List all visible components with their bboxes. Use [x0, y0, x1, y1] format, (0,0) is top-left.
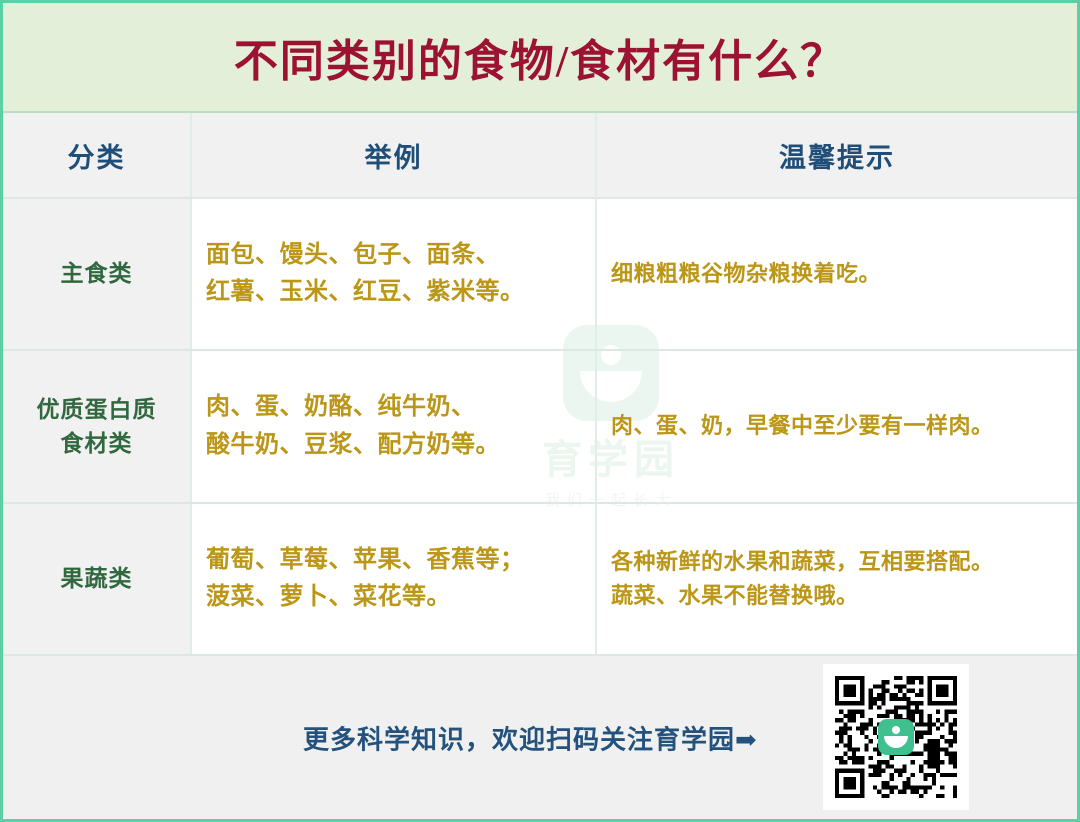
- qr-code-card[interactable]: [823, 664, 969, 810]
- header-label-category: 分类: [68, 136, 126, 175]
- qr-center-logo-icon: [878, 719, 914, 755]
- examples-line: 面包、馒头、包子、面条、: [206, 237, 525, 274]
- row-tips-cell: 各种新鲜的水果和蔬菜，互相要搭配。 蔬菜、水果不能替换哦。: [595, 504, 1077, 654]
- row-examples-cell: 葡萄、草莓、苹果、香蕉等； 菠菜、萝卜、菜花等。: [190, 504, 595, 654]
- row-examples-cell: 肉、蛋、奶酪、纯牛奶、 酸牛奶、豆浆、配方奶等。: [190, 351, 595, 502]
- table-row: 主食类 面包、馒头、包子、面条、 红薯、玉米、红豆、紫米等。 细粮粗粮谷物杂粮换…: [3, 199, 1077, 351]
- row-tips-text: 细粮粗粮谷物杂粮换着吃。: [611, 257, 881, 291]
- examples-line: 红薯、玉米、红豆、紫米等。: [206, 274, 525, 311]
- row-category-cell: 果蔬类: [3, 504, 190, 654]
- row-category-label: 优质蛋白质 食材类: [37, 393, 157, 460]
- title-band: 不同类别的食物/食材有什么？: [3, 3, 1077, 113]
- row-tips-cell: 肉、蛋、奶，早餐中至少要有一样肉。: [595, 351, 1077, 502]
- row-category-cell: 优质蛋白质 食材类: [3, 351, 190, 502]
- row-examples-cell: 面包、馒头、包子、面条、 红薯、玉米、红豆、紫米等。: [190, 199, 595, 349]
- header-label-tips: 温馨提示: [779, 136, 895, 175]
- poster-container: 不同类别的食物/食材有什么？ 育学园 我们一起长大 分类 举例 温馨提示 主食类: [0, 0, 1080, 822]
- qr-logo-bowl: [884, 736, 908, 748]
- row-category-label: 果蔬类: [61, 562, 133, 595]
- table-row: 优质蛋白质 食材类 肉、蛋、奶酪、纯牛奶、 酸牛奶、豆浆、配方奶等。 肉、蛋、奶…: [3, 351, 1077, 504]
- examples-line: 葡萄、草莓、苹果、香蕉等；: [206, 542, 525, 579]
- row-examples-text: 葡萄、草莓、苹果、香蕉等； 菠菜、萝卜、菜花等。: [206, 542, 525, 616]
- tips-line: 蔬菜、水果不能替换哦。: [611, 579, 994, 613]
- qr-code-holder: [835, 676, 957, 798]
- tips-line: 各种新鲜的水果和蔬菜，互相要搭配。: [611, 545, 994, 579]
- category-line: 食材类: [37, 427, 157, 460]
- footer-cta-text: 更多科学知识，欢迎扫码关注育学园➡: [303, 719, 758, 756]
- row-examples-text: 面包、馒头、包子、面条、 红薯、玉米、红豆、紫米等。: [206, 237, 525, 311]
- qr-logo-dot: [892, 726, 900, 734]
- examples-line: 菠菜、萝卜、菜花等。: [206, 579, 525, 616]
- table-row: 果蔬类 葡萄、草莓、苹果、香蕉等； 菠菜、萝卜、菜花等。 各种新鲜的水果和蔬菜，…: [3, 504, 1077, 656]
- examples-line: 肉、蛋、奶酪、纯牛奶、: [206, 389, 500, 426]
- table-header-cell-tips: 温馨提示: [595, 113, 1077, 197]
- tips-line: 肉、蛋、奶，早餐中至少要有一样肉。: [611, 409, 994, 443]
- table-header-cell-category: 分类: [3, 113, 190, 197]
- category-line: 优质蛋白质: [37, 393, 157, 426]
- page-title: 不同类别的食物/食材有什么？: [234, 25, 846, 89]
- row-tips-text: 肉、蛋、奶，早餐中至少要有一样肉。: [611, 409, 994, 443]
- food-category-table: 分类 举例 温馨提示 主食类 面包、馒头、包子、面条、 红薯、玉米、红豆、紫米等…: [3, 113, 1077, 656]
- footer-bar: 更多科学知识，欢迎扫码关注育学园➡: [3, 654, 1077, 819]
- tips-line: 细粮粗粮谷物杂粮换着吃。: [611, 257, 881, 291]
- row-tips-cell: 细粮粗粮谷物杂粮换着吃。: [595, 199, 1077, 349]
- row-tips-text: 各种新鲜的水果和蔬菜，互相要搭配。 蔬菜、水果不能替换哦。: [611, 545, 994, 613]
- header-label-examples: 举例: [365, 136, 423, 175]
- examples-line: 酸牛奶、豆浆、配方奶等。: [206, 427, 500, 464]
- row-examples-text: 肉、蛋、奶酪、纯牛奶、 酸牛奶、豆浆、配方奶等。: [206, 389, 500, 463]
- table-header-row: 分类 举例 温馨提示: [3, 113, 1077, 199]
- table-header-cell-examples: 举例: [190, 113, 595, 197]
- row-category-label: 主食类: [61, 257, 133, 290]
- row-category-cell: 主食类: [3, 199, 190, 349]
